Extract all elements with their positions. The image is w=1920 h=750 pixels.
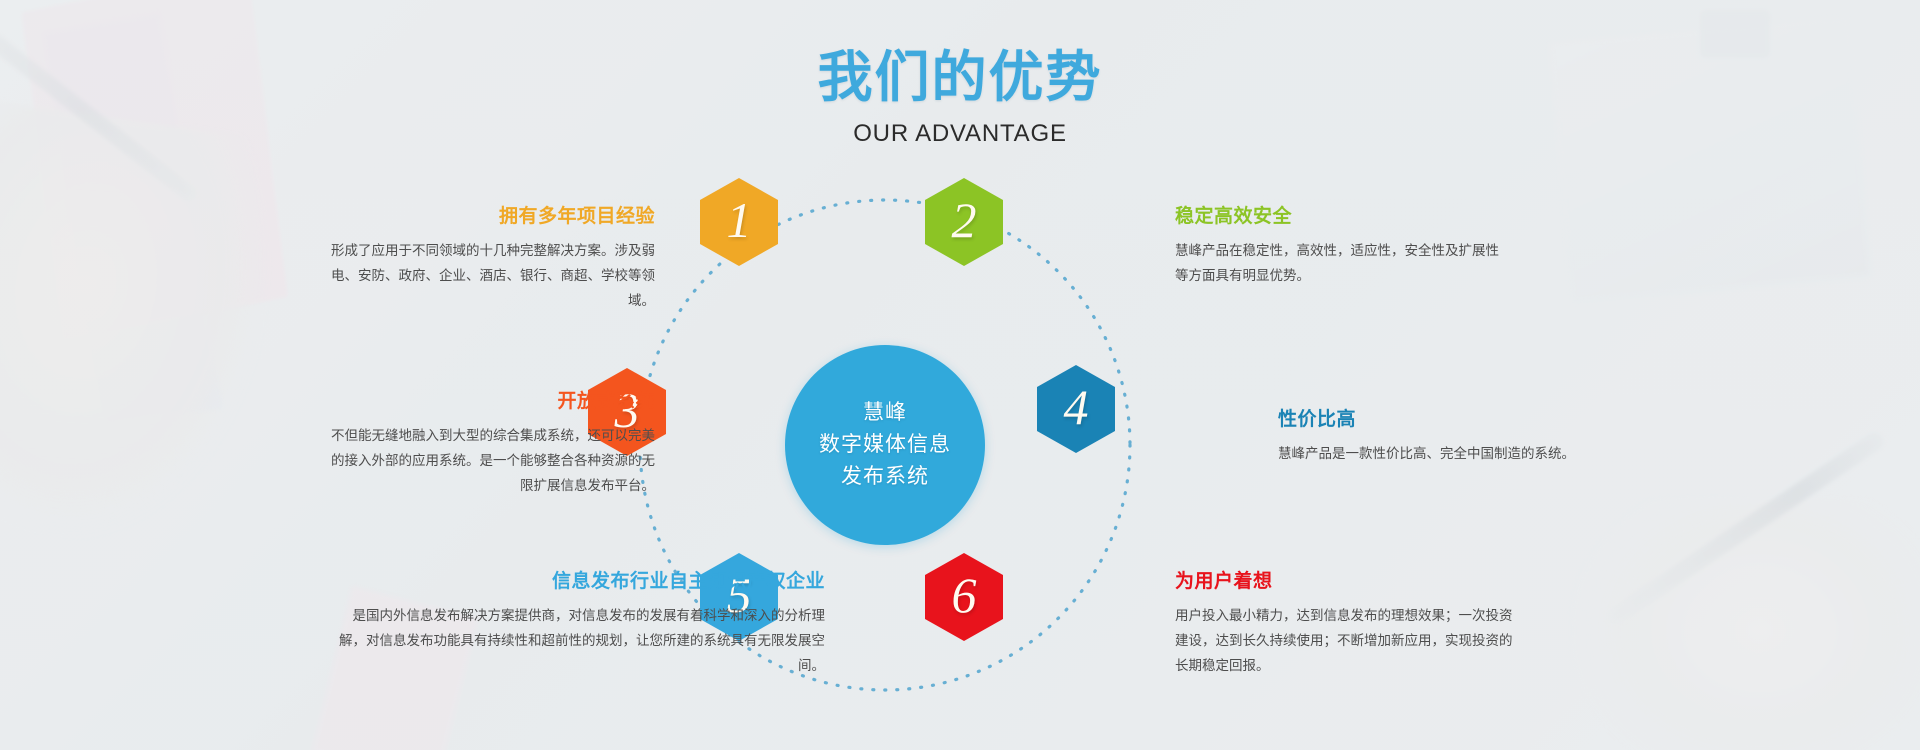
hex-badge-1-number: 1	[727, 195, 752, 245]
advantage-infographic: 我们的优势 OUR ADVANTAGE 慧峰 数字媒体信息 发布系统 1 2 3…	[0, 0, 1920, 750]
advantage-item-1-title: 拥有多年项目经验	[330, 205, 655, 229]
page-title-zh: 我们的优势	[0, 44, 1920, 110]
center-product-circle: 慧峰 数字媒体信息 发布系统	[785, 345, 985, 545]
center-line-2: 数字媒体信息	[819, 429, 951, 461]
hex-badge-6-number: 6	[952, 570, 977, 620]
page-heading: 我们的优势 OUR ADVANTAGE	[0, 44, 1920, 149]
center-line-3: 发布系统	[841, 461, 929, 493]
advantage-item-4-title: 性价比高	[1278, 408, 1598, 432]
hex-badge-4-number: 4	[1064, 382, 1089, 432]
advantage-item-3-body: 不但能无缝地融入到大型的综合集成系统，还可以完美的接入外部的应用系统。是一个能够…	[330, 423, 655, 498]
advantage-item-2-title: 稳定高效安全	[1175, 205, 1505, 229]
advantage-item-1-body: 形成了应用于不同领域的十几种完整解决方案。涉及弱电、安防、政府、企业、酒店、银行…	[330, 238, 655, 313]
background-hand-right	[1570, 500, 1920, 750]
background-hand-left	[0, 101, 288, 559]
advantage-item-4-body: 慧峰产品是一款性价比高、完全中国制造的系统。	[1278, 441, 1598, 466]
hex-badge-2-number: 2	[952, 195, 977, 245]
page-title-en: OUR ADVANTAGE	[0, 119, 1920, 149]
advantage-item-5-title: 信息发布行业自主知识产权企业	[330, 570, 825, 594]
background-pen-right	[1603, 429, 1887, 628]
advantage-item-5-body: 是国内外信息发布解决方案提供商，对信息发布的发展有着科学和深入的分析理解，对信息…	[330, 603, 825, 678]
advantage-item-1: 拥有多年项目经验 形成了应用于不同领域的十几种完整解决方案。涉及弱电、安防、政府…	[330, 205, 655, 313]
advantage-item-6: 为用户着想 用户投入最小精力，达到信息发布的理想效果；一次投资建设，达到长久持续…	[1175, 570, 1515, 678]
advantage-item-2: 稳定高效安全 慧峰产品在稳定性，高效性，适应性，安全性及扩展性等方面具有明显优势…	[1175, 205, 1505, 288]
center-line-1: 慧峰	[863, 397, 907, 429]
advantage-item-6-title: 为用户着想	[1175, 570, 1515, 594]
advantage-item-4: 性价比高 慧峰产品是一款性价比高、完全中国制造的系统。	[1278, 408, 1598, 466]
advantage-item-3-title: 开放式系统	[330, 390, 655, 414]
advantage-item-6-body: 用户投入最小精力，达到信息发布的理想效果；一次投资建设，达到长久持续使用；不断增…	[1175, 603, 1515, 678]
advantage-item-2-body: 慧峰产品在稳定性，高效性，适应性，安全性及扩展性等方面具有明显优势。	[1175, 238, 1505, 288]
advantage-item-5: 信息发布行业自主知识产权企业 是国内外信息发布解决方案提供商，对信息发布的发展有…	[330, 570, 825, 678]
advantage-item-3: 开放式系统 不但能无缝地融入到大型的综合集成系统，还可以完美的接入外部的应用系统…	[330, 390, 655, 498]
